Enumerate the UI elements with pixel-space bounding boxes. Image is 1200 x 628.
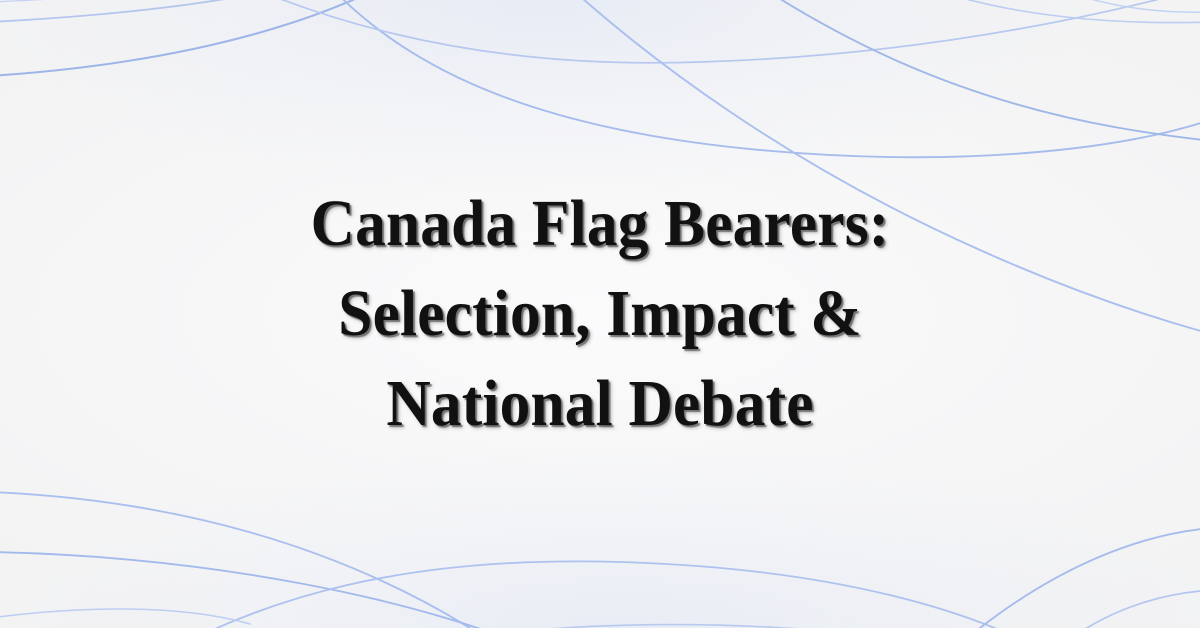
title-line-3: National Debate <box>98 359 1102 449</box>
title-line-1: Canada Flag Bearers: <box>98 179 1102 269</box>
title-banner: Canada Flag Bearers: Selection, Impact &… <box>0 0 1200 628</box>
title-line-2: Selection, Impact & <box>98 269 1102 359</box>
page-title: Canada Flag Bearers: Selection, Impact &… <box>0 0 1200 628</box>
